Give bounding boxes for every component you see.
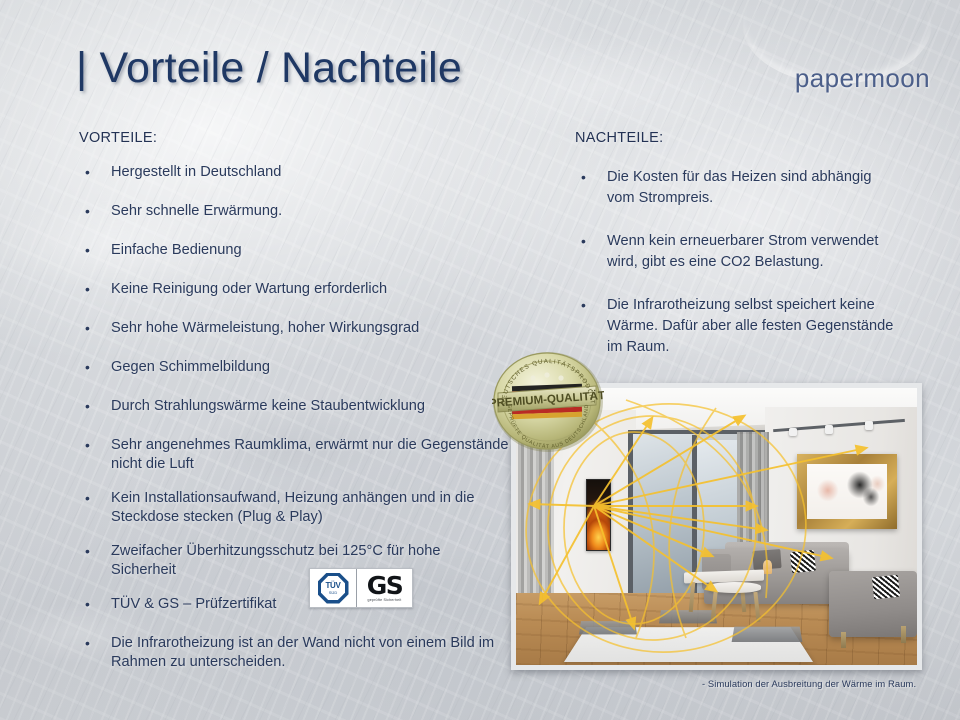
- list-item: Sehr angenehmes Raumklima, erwärmt nur d…: [79, 436, 509, 474]
- vorteile-list: Hergestellt in Deutschland Sehr schnelle…: [79, 163, 509, 687]
- list-item: Gegen Schimmelbildung: [79, 358, 509, 377]
- rug-pattern-square: [579, 621, 637, 634]
- window-mullion-1: [628, 430, 633, 613]
- tuev-octagon-inner: TÜV SÜD: [321, 576, 345, 600]
- nachteile-list: Die Kosten für das Heizen sind abhängig …: [575, 167, 895, 380]
- curtain-left: [518, 427, 554, 610]
- patterned-pillow: [872, 575, 900, 600]
- gs-sublabel: geprüfte Sicherheit: [368, 598, 402, 602]
- list-item-tuev-gs: TÜV & GS – Prüfzertifikat: [79, 595, 509, 614]
- patterned-pillow: [790, 550, 816, 573]
- list-item: Kein Installationsaufwand, Heizung anhän…: [79, 489, 509, 527]
- list-item: Zweifacher Überhitzungsschutz bei 125°C …: [79, 542, 509, 580]
- list-item: Einfache Bedienung: [79, 241, 509, 260]
- brand-logo: papermoon: [795, 63, 930, 94]
- table-lamp: [763, 560, 773, 574]
- furniture-leg: [841, 632, 846, 649]
- framed-artwork: [797, 454, 897, 529]
- artwork-canvas: [807, 464, 887, 519]
- tuev-octagon-icon: TÜV SÜD: [318, 573, 349, 604]
- page-title: | Vorteile / Nachteile: [76, 44, 462, 93]
- list-item: Die Infrarotheizung selbst speichert kei…: [575, 295, 895, 358]
- list-item: Die Infrarotheizung ist an der Wand nich…: [79, 634, 509, 672]
- list-item: Hergestellt in Deutschland: [79, 163, 509, 182]
- list-item: Sehr schnelle Erwärmung.: [79, 202, 509, 221]
- gs-label: GS: [367, 574, 403, 598]
- tuev-label: TÜV: [325, 582, 340, 590]
- list-item: Sehr hohe Wärmeleistung, hoher Wirkungsg…: [79, 319, 509, 338]
- tuev-icon: TÜV SÜD: [310, 569, 357, 607]
- infrared-heater-panel: [586, 479, 611, 551]
- rug-pattern-square: [731, 627, 802, 642]
- list-item: Wenn kein erneuerbarer Strom verwendet w…: [575, 231, 895, 273]
- vorteile-heading: VORTEILE:: [79, 130, 157, 146]
- tuev-gs-certificate-badge: TÜV SÜD GS geprüfte Sicherheit: [309, 568, 413, 608]
- room-simulation-photo: [511, 383, 922, 670]
- nachteile-heading: NACHTEILE:: [575, 130, 663, 146]
- tuev-sublabel: SÜD: [329, 590, 337, 595]
- room-photo-content: [516, 388, 917, 665]
- furniture-leg: [901, 626, 906, 643]
- photo-caption: - Simulation der Ausbreitung der Wärme i…: [702, 678, 916, 689]
- spotlight-icon: [865, 421, 873, 429]
- spotlight-icon: [825, 425, 833, 433]
- spotlight-icon: [789, 428, 797, 436]
- list-item: Durch Strahlungswärme keine Staubentwick…: [79, 397, 509, 416]
- gs-icon: GS geprüfte Sicherheit: [357, 569, 412, 607]
- list-item: Keine Reinigung oder Wartung erforderlic…: [79, 280, 509, 299]
- list-item: Die Kosten für das Heizen sind abhängig …: [575, 167, 895, 209]
- slide-canvas: | Vorteile / Nachteile papermoon VORTEIL…: [0, 0, 960, 720]
